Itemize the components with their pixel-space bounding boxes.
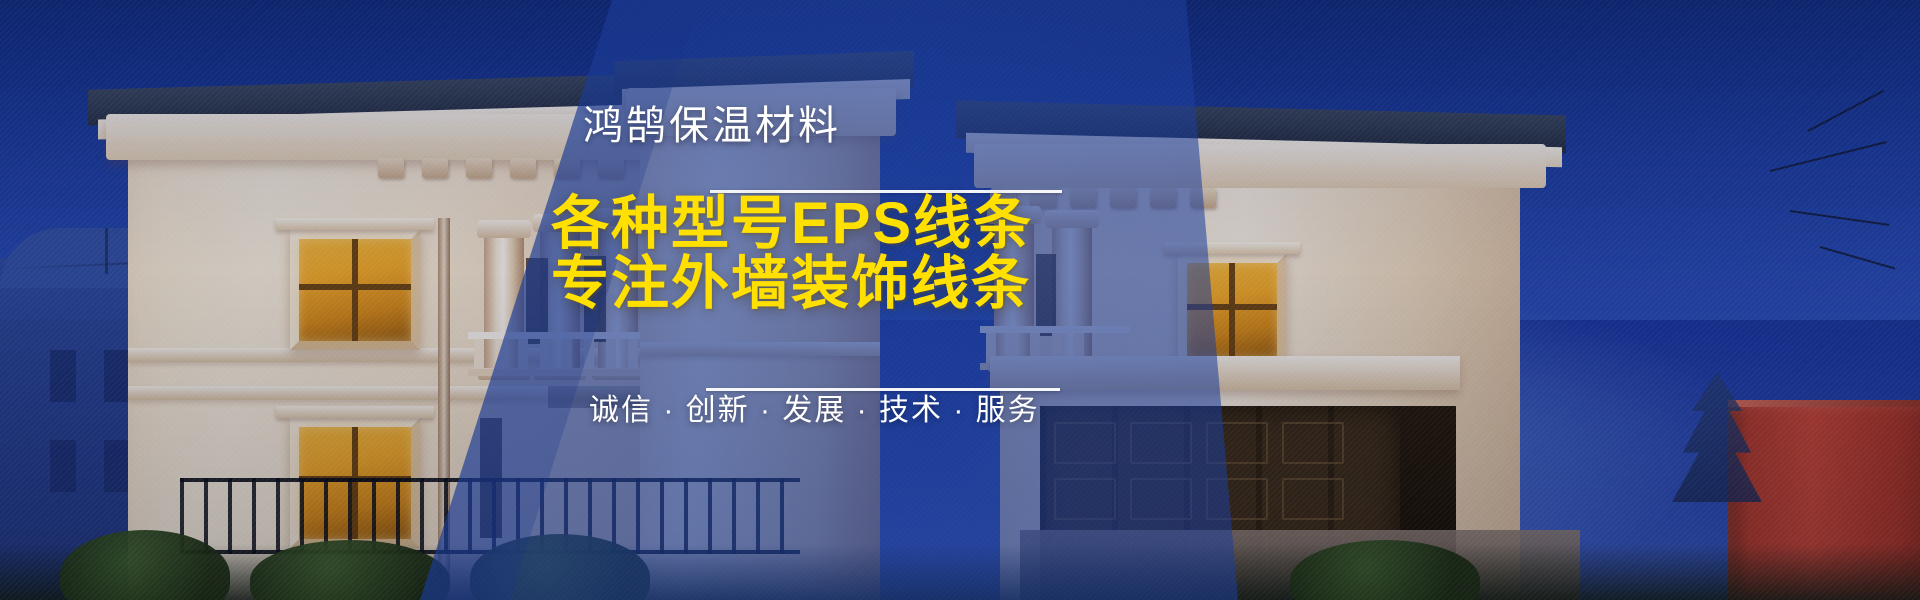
brand-name: 鸿鹄保温材料 [583,106,841,146]
banner-copy: 鸿鹄保温材料 各种型号EPS线条 专注外墙装饰线条 诚信 · 创新 · 发展 ·… [0,0,1920,600]
headline-line-2: 专注外墙装饰线条 [551,255,1031,313]
divider-bottom [706,388,1060,391]
hero-banner: 鸿鹄保温材料 各种型号EPS线条 专注外墙装饰线条 诚信 · 创新 · 发展 ·… [0,0,1920,600]
tagline: 诚信 · 创新 · 发展 · 技术 · 服务 [589,396,1040,426]
headline-line-1: 各种型号EPS线条 [551,195,1033,253]
